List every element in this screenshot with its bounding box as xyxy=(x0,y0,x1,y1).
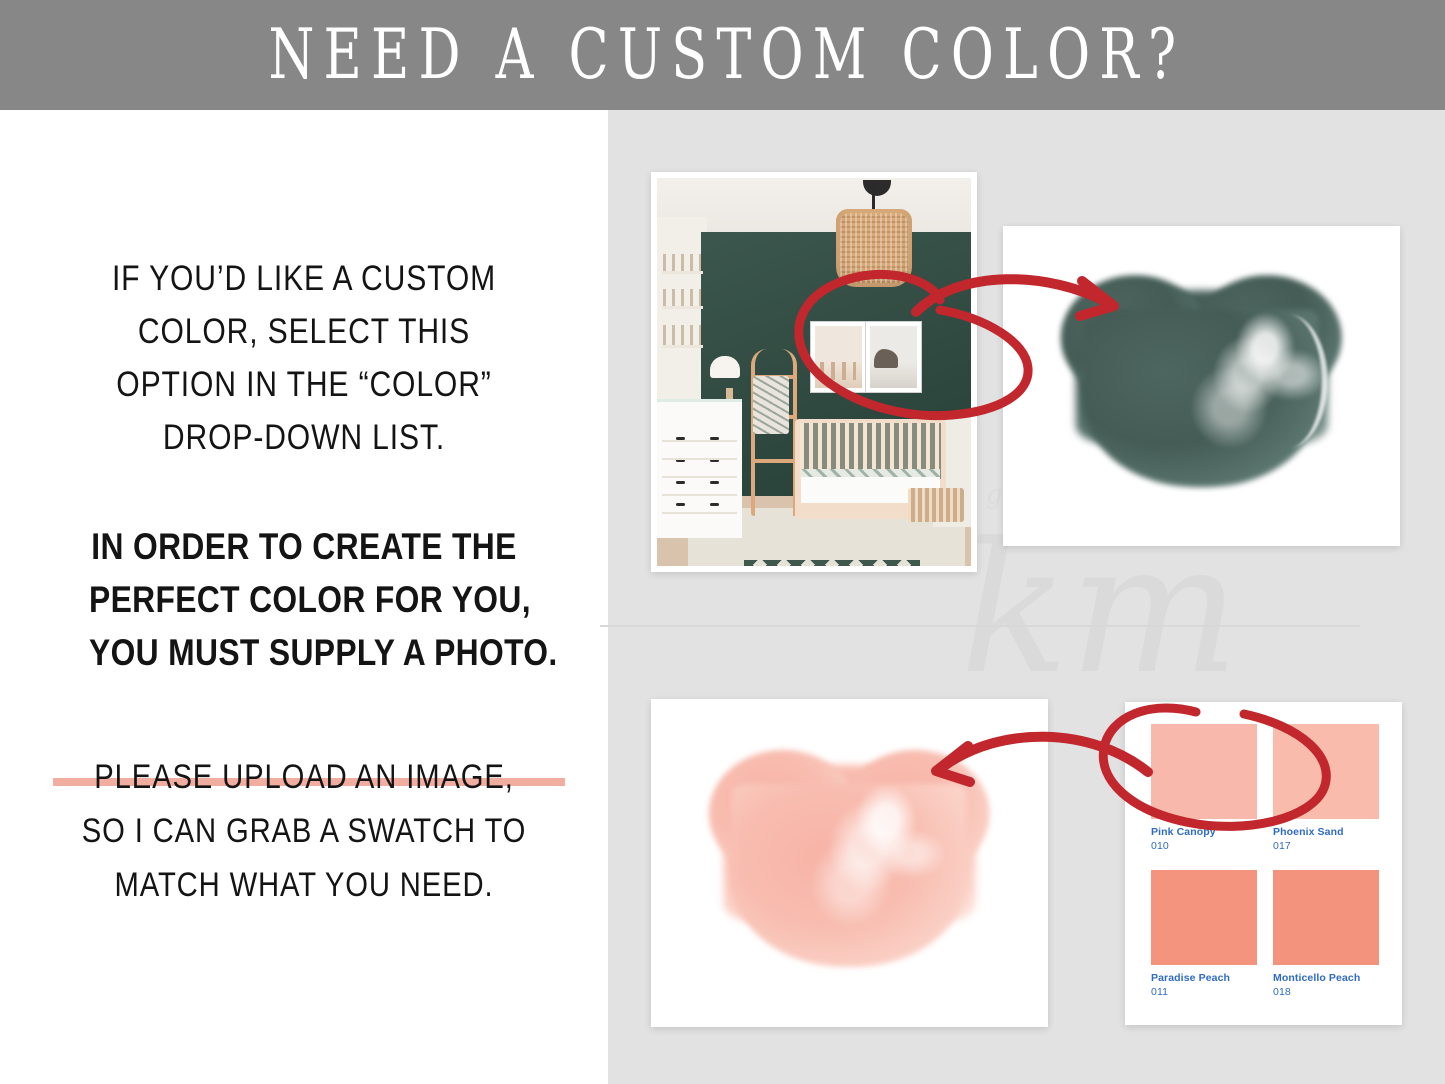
paragraph-3-line-1: PLEASE UPLOAD AN IMAGE, xyxy=(80,750,527,804)
paragraph-1-line-4: DROP-DOWN LIST. xyxy=(89,411,519,464)
paragraph-1-line-3: OPTION IN THE “COLOR” xyxy=(89,358,519,411)
swatch-name: Phoenix Sand xyxy=(1273,826,1379,838)
dresser-knob xyxy=(710,503,719,506)
white-dresser xyxy=(657,399,742,538)
poster-page: NEED A CUSTOM COLOR? IF YOU’D LIKE A CUS… xyxy=(0,0,1445,1084)
paragraph-1-line-2: COLOR, SELECT THIS xyxy=(89,305,519,358)
rattan-pendant-light xyxy=(836,209,912,287)
paragraph-1-line-1: IF YOU’D LIKE A CUSTOM xyxy=(89,252,519,305)
wall-art-right xyxy=(870,326,917,388)
wall-art-left xyxy=(815,326,862,388)
dresser-knob xyxy=(676,437,685,440)
pink-heart-art-card xyxy=(651,699,1048,1027)
paragraph-3-line-3: MATCH WHAT YOU NEED. xyxy=(80,858,527,912)
instruction-paragraph-2: IN ORDER TO CREATE THE PERFECT COLOR FOR… xyxy=(54,520,554,679)
wall-shelf-2 xyxy=(662,306,703,309)
green-heart-art-card xyxy=(1003,226,1400,546)
swatch-code: 018 xyxy=(1273,986,1379,998)
swatch-chip-phoenix-sand[interactable] xyxy=(1273,724,1379,819)
paragraph-2-line-3: YOU MUST SUPPLY A PHOTO. xyxy=(89,626,519,679)
swatch-item[interactable]: Monticello Peach 018 xyxy=(1273,870,1379,998)
nursery-photo xyxy=(657,178,971,566)
swatch-code: 010 xyxy=(1151,840,1257,852)
wall-shelf-3 xyxy=(662,345,703,348)
paragraph-2-line-2: PERFECT COLOR FOR YOU, xyxy=(89,573,519,626)
swatch-item[interactable]: Phoenix Sand 017 xyxy=(1273,724,1379,852)
instruction-paragraph-1: IF YOU’D LIKE A CUSTOM COLOR, SELECT THI… xyxy=(54,252,554,464)
ultrasound-arc xyxy=(1247,314,1327,448)
rug-pattern xyxy=(744,560,921,566)
dresser-knob xyxy=(710,437,719,440)
green-watercolor-heart xyxy=(1058,261,1345,501)
dresser-knob xyxy=(676,481,685,484)
dresser-knob xyxy=(676,503,685,506)
wall-shelf-1 xyxy=(662,271,703,274)
dresser-knob xyxy=(710,459,719,462)
ultrasound-overlay xyxy=(786,779,946,942)
swatch-chip-monticello-peach[interactable] xyxy=(1273,870,1379,965)
pink-heart-print xyxy=(661,709,1038,1017)
swatch-chip-paradise-peach[interactable] xyxy=(1151,870,1257,965)
page-title: NEED A CUSTOM COLOR? xyxy=(259,20,1185,90)
swatch-chip-pink-canopy[interactable] xyxy=(1151,724,1257,819)
shelf-items-3 xyxy=(663,325,701,344)
hanging-blanket xyxy=(753,376,789,434)
swatch-name: Monticello Peach xyxy=(1273,972,1379,984)
wall-art-frame-left xyxy=(811,322,866,392)
swatch-grid: Pink Canopy 010 Phoenix Sand 017 Paradis… xyxy=(1151,724,1379,1016)
left-text-panel: IF YOU’D LIKE A CUSTOM COLOR, SELECT THI… xyxy=(0,110,608,1084)
wall-art-frame-right xyxy=(866,322,921,392)
instruction-paragraph-3: PLEASE UPLOAD AN IMAGE, SO I CAN GRAB A … xyxy=(44,750,564,912)
swatch-code: 017 xyxy=(1273,840,1379,852)
toy-basket xyxy=(908,488,964,522)
dresser-knob xyxy=(676,459,685,462)
ladder-rung xyxy=(755,459,793,463)
swatch-code: 011 xyxy=(1151,986,1257,998)
paragraph-2-line-1: IN ORDER TO CREATE THE xyxy=(89,520,519,573)
page-header: NEED A CUSTOM COLOR? xyxy=(0,0,1445,110)
swatch-item[interactable]: Paradise Peach 011 xyxy=(1151,870,1257,998)
dresser-knob xyxy=(710,481,719,484)
paint-swatch-card[interactable]: Pink Canopy 010 Phoenix Sand 017 Paradis… xyxy=(1125,702,1402,1025)
nursery-photo-card xyxy=(651,172,977,572)
paragraph-3-line-2: SO I CAN GRAB A SWATCH TO xyxy=(80,804,527,858)
table-lamp-shade xyxy=(710,356,740,378)
swatch-name: Pink Canopy xyxy=(1151,826,1257,838)
swatch-name: Paradise Peach xyxy=(1151,972,1257,984)
green-heart-print xyxy=(1013,236,1390,536)
pink-watercolor-heart xyxy=(706,735,993,981)
swatch-item[interactable]: Pink Canopy 010 xyxy=(1151,724,1257,852)
